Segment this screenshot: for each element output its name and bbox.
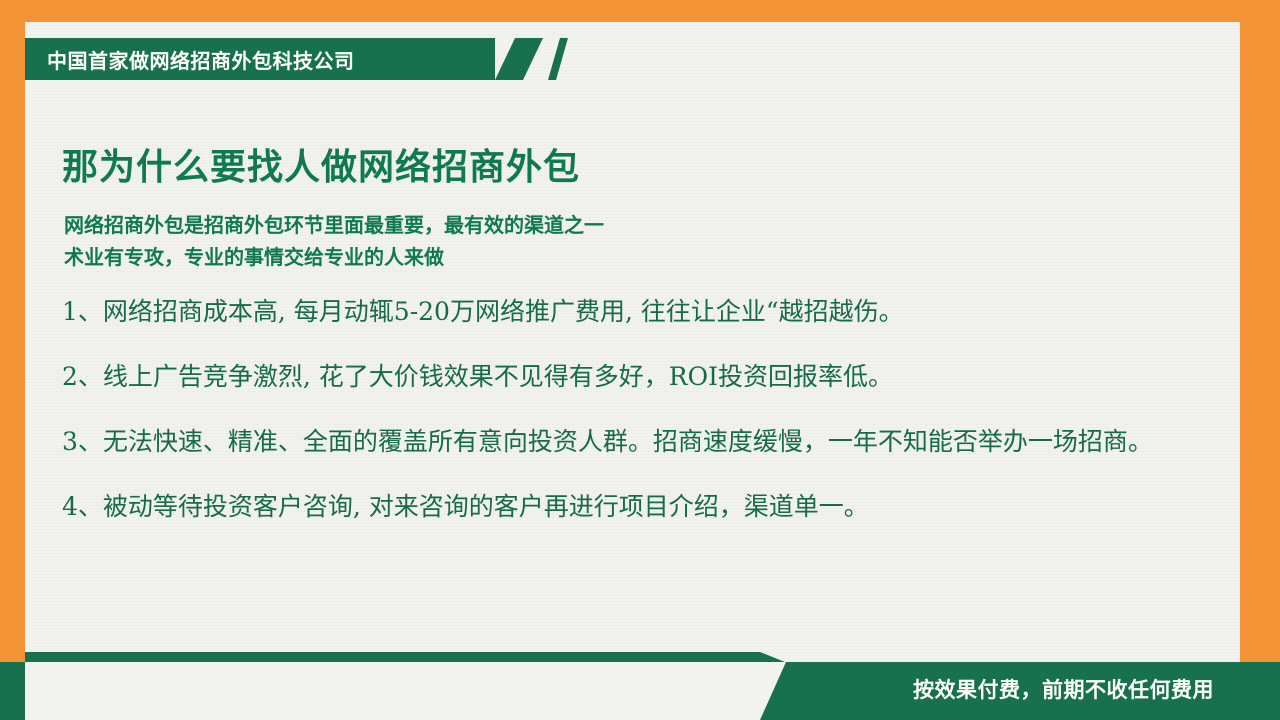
list-item: 4、被动等待投资客户咨询, 对来咨询的客户再进行项目介绍，渠道单一。: [62, 487, 1202, 527]
slide-root: 中国首家做网络招商外包科技公司 那为什么要找人做网络招商外包 网络招商外包是招商…: [0, 0, 1280, 720]
footer-notch-shape: [25, 652, 785, 662]
list-item: 2、线上广告竞争激烈, 花了大价钱效果不见得有多好，ROI投资回报率低。: [62, 357, 1202, 397]
footer-paper-left: [25, 662, 760, 720]
list-item: 3、无法快速、精准、全面的覆盖所有意向投资人群。招商速度缓慢，一年不知能否举办一…: [62, 422, 1202, 462]
body-list: 1、网络招商成本高, 每月动辄5-20万网络推广费用, 往往让企业“越招越伤。 …: [62, 292, 1202, 552]
header-ribbon-label: 中国首家做网络招商外包科技公司: [47, 45, 355, 74]
subtitle-line-1: 网络招商外包是招商外包环节里面最重要，最有效的渠道之一: [64, 210, 604, 242]
list-item: 1、网络招商成本高, 每月动辄5-20万网络推广费用, 往往让企业“越招越伤。: [62, 292, 1202, 332]
subtitle-line-2: 术业有专攻，专业的事情交给专业的人来做: [64, 242, 604, 274]
page-title: 那为什么要找人做网络招商外包: [62, 138, 580, 190]
page-subtitle: 网络招商外包是招商外包环节里面最重要，最有效的渠道之一 术业有专攻，专业的事情交…: [64, 210, 604, 274]
footer-label: 按效果付费，前期不收任何费用: [913, 674, 1214, 704]
header-ribbon: 中国首家做网络招商外包科技公司: [25, 38, 495, 80]
